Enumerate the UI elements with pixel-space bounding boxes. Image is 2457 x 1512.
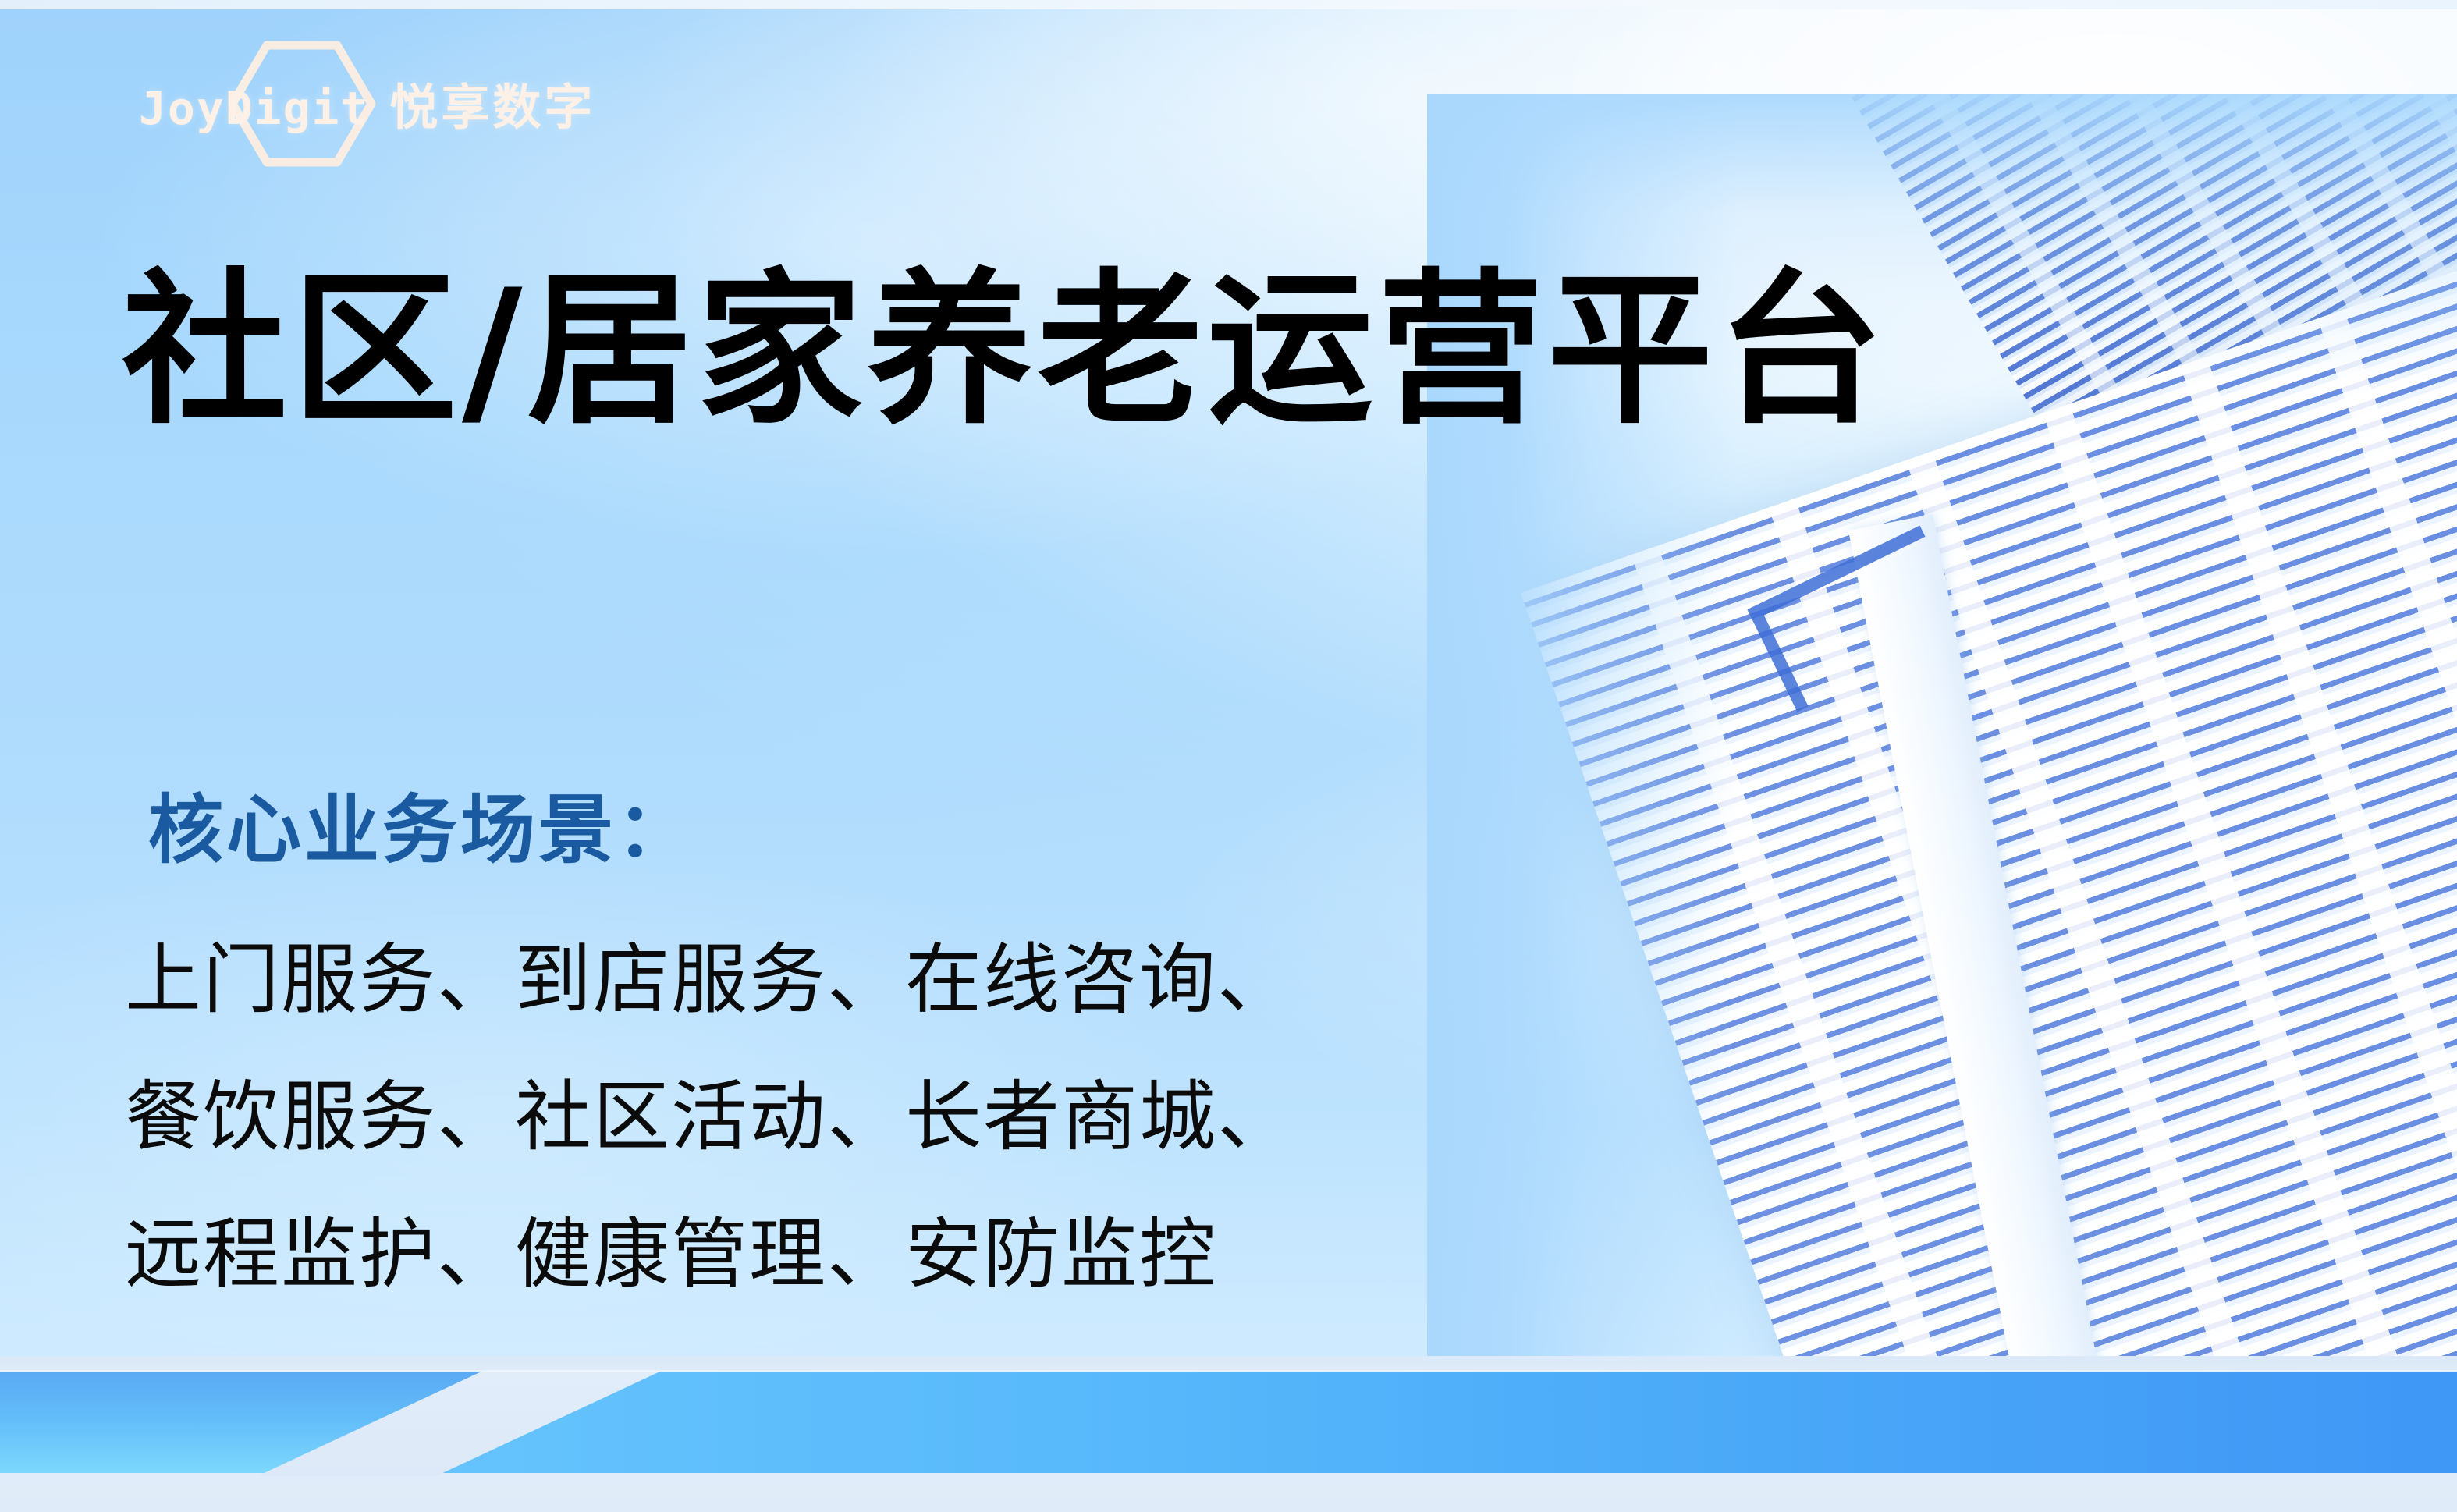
scenario-line-3: 远程监护、健康管理、安防监控: [125, 1186, 1295, 1323]
brand-logo-mark: JoyDigit: [139, 82, 369, 135]
brand-logo-cn: 悦享数字: [389, 81, 595, 135]
scenario-list: 上门服务、到店服务、在线咨询、 餐饮服务、社区活动、长者商城、 远程监护、健康管…: [125, 911, 1295, 1323]
top-edge-strip: [0, 0, 2457, 9]
band-highlight-edge: [0, 1370, 2457, 1372]
brand-logo: JoyDigit悦享数字: [139, 67, 595, 139]
page-title: 社区/居家养老运营平台: [122, 257, 1887, 442]
bottom-decor-band: [0, 1356, 2457, 1512]
banner-slide: JoyDigit悦享数字 社区/居家养老运营平台 核心业务场景： 上门服务、到店…: [0, 0, 2457, 1512]
scenario-line-2: 餐饮服务、社区活动、长者商城、: [125, 1049, 1295, 1186]
brand-logo-text: JoyDigit悦享数字: [139, 68, 595, 138]
section-subheading: 核心业务场景：: [148, 769, 694, 878]
scenario-line-1: 上门服务、到店服务、在线咨询、: [125, 911, 1295, 1049]
